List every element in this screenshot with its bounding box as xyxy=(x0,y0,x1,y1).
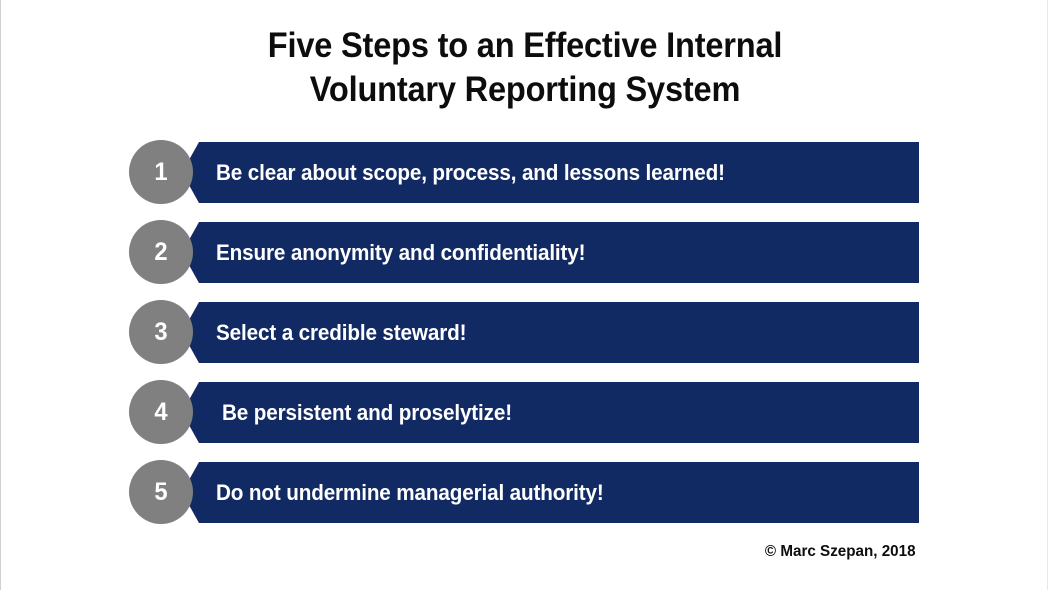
step-number-4: 4 xyxy=(154,400,167,425)
step-bar-2: Ensure anonymity and confidentiality! xyxy=(182,222,919,283)
step-row: Be clear about scope, process, and lesso… xyxy=(1,142,1048,203)
step-row: Select a credible steward! 3 xyxy=(1,302,1048,363)
step-label-5: Do not undermine managerial authority! xyxy=(216,480,604,506)
step-number-5: 5 xyxy=(154,480,167,505)
step-badge-5: 5 xyxy=(129,460,193,524)
step-row: Do not undermine managerial authority! 5 xyxy=(1,462,1048,523)
step-badge-1: 1 xyxy=(129,140,193,204)
step-number-1: 1 xyxy=(154,160,167,185)
step-number-2: 2 xyxy=(154,240,167,265)
step-label-1: Be clear about scope, process, and lesso… xyxy=(216,160,725,186)
step-row: Ensure anonymity and confidentiality! 2 xyxy=(1,222,1048,283)
copyright-notice: © Marc Szepan, 2018 xyxy=(765,543,916,561)
step-number-3: 3 xyxy=(154,320,167,345)
step-badge-4: 4 xyxy=(129,380,193,444)
step-bar-5: Do not undermine managerial authority! xyxy=(182,462,919,523)
step-label-2: Ensure anonymity and confidentiality! xyxy=(216,240,585,266)
step-bar-3: Select a credible steward! xyxy=(182,302,919,363)
page-title-line-2: Voluntary Reporting System xyxy=(38,68,1013,112)
step-badge-3: 3 xyxy=(129,300,193,364)
step-badge-2: 2 xyxy=(129,220,193,284)
steps-list: Be clear about scope, process, and lesso… xyxy=(1,142,1048,523)
step-row: Be persistent and proselytize! 4 xyxy=(1,382,1048,443)
step-bar-1: Be clear about scope, process, and lesso… xyxy=(182,142,919,203)
page-title: Five Steps to an Effective Internal Volu… xyxy=(1,24,1048,112)
step-label-4: Be persistent and proselytize! xyxy=(222,400,512,426)
slide-canvas: Five Steps to an Effective Internal Volu… xyxy=(0,0,1048,590)
step-bar-4: Be persistent and proselytize! xyxy=(182,382,919,443)
step-label-3: Select a credible steward! xyxy=(216,320,466,346)
page-title-line-1: Five Steps to an Effective Internal xyxy=(38,24,1013,68)
